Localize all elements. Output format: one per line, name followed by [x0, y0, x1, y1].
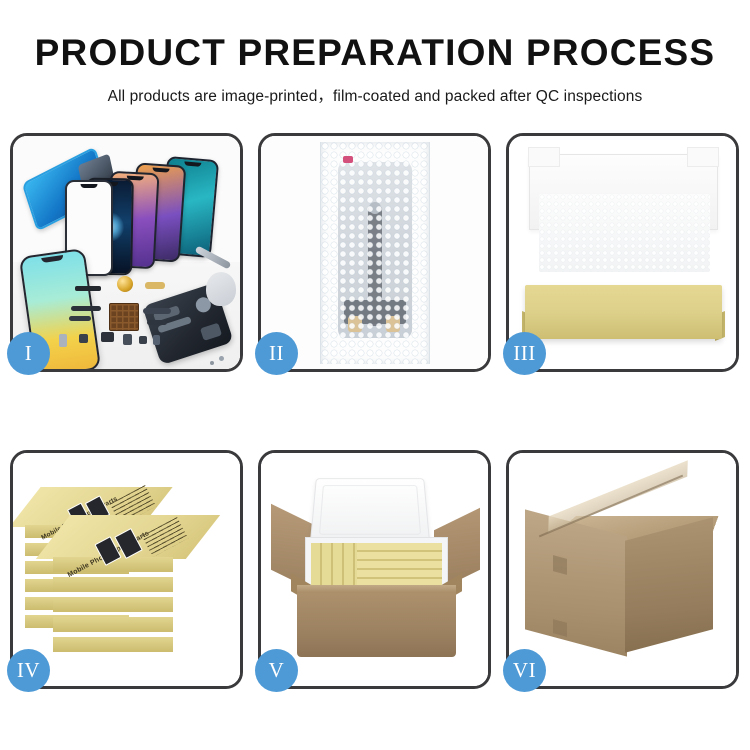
- ic-chip-part-icon: [139, 336, 147, 344]
- step-5-photo: [261, 453, 488, 686]
- gold-connector-part-icon: [117, 276, 133, 292]
- step-1-photo: [13, 136, 240, 369]
- yellow-boxes-flat-icon: [357, 543, 442, 585]
- foam-sheet-icon: [539, 194, 710, 272]
- retail-box-stack-scene: Mobile Phone Spare Parts Mobile Phone Sp…: [13, 453, 240, 686]
- flex-cable-right2-part-icon: [147, 320, 167, 325]
- ic-chip2-part-icon: [153, 335, 160, 345]
- carton-front-panel-icon: [297, 585, 456, 657]
- pink-tape-icon: [343, 156, 353, 163]
- sim-tray-part-icon: [59, 334, 67, 347]
- step-badge-5: V: [255, 649, 298, 692]
- step-badge-4: IV: [7, 649, 50, 692]
- button-part-icon: [79, 334, 88, 343]
- flex-cable-right-part-icon: [143, 308, 171, 314]
- carton-right-face-icon: [625, 517, 713, 653]
- foam-lid-icon: [310, 478, 430, 543]
- step-badge-6: VI: [503, 649, 546, 692]
- page-subtitle: All products are image-printed，film-coat…: [0, 84, 750, 106]
- sealed-carton-scene: [509, 453, 736, 686]
- page-header: PRODUCT PREPARATION PROCESS All products…: [0, 0, 750, 106]
- phone-parts-scene: [13, 136, 240, 369]
- screw-part-icon: [219, 356, 224, 361]
- yellow-box-tray-icon: [525, 285, 722, 339]
- process-step-grid: I II: [10, 133, 740, 689]
- bubble-wrap-scene: [261, 136, 488, 369]
- flex-cable-left2-part-icon: [69, 316, 91, 321]
- step-badge-1: I: [7, 332, 50, 375]
- step-2-photo: [261, 136, 488, 369]
- carton-notch-upper-icon: [553, 555, 567, 575]
- flex-cable-gold-part-icon: [145, 282, 165, 289]
- step-badge-3: III: [503, 332, 546, 375]
- step-3-photo: [509, 136, 736, 369]
- step-6-photo: [509, 453, 736, 686]
- process-step-panel-3[interactable]: III: [506, 133, 739, 372]
- process-step-panel-4[interactable]: Mobile Phone Spare Parts Mobile Phone Sp…: [10, 450, 243, 689]
- screw2-part-icon: [210, 361, 214, 365]
- carton-loading-scene: [261, 453, 488, 686]
- chip-grid-part-icon: [109, 303, 139, 331]
- step-4-photo: Mobile Phone Spare Parts Mobile Phone Sp…: [13, 453, 240, 686]
- vibrator-part-icon: [123, 334, 132, 345]
- process-step-panel-1[interactable]: I: [10, 133, 243, 372]
- flex-cable-left-part-icon: [71, 306, 101, 311]
- wrapped-lcd-icon: [338, 162, 412, 338]
- inner-box-scene: [509, 136, 736, 369]
- process-step-panel-6[interactable]: VI: [506, 450, 739, 689]
- step-badge-2: II: [255, 332, 298, 375]
- bubble-wrap-bag-icon: [320, 142, 430, 364]
- speaker-part-icon: [101, 332, 114, 342]
- process-step-panel-2[interactable]: II: [258, 133, 491, 372]
- page-title: PRODUCT PREPARATION PROCESS: [0, 34, 750, 73]
- process-step-panel-5[interactable]: V: [258, 450, 491, 689]
- hand-icon: [206, 272, 236, 306]
- antenna-strip-part-icon: [75, 286, 101, 291]
